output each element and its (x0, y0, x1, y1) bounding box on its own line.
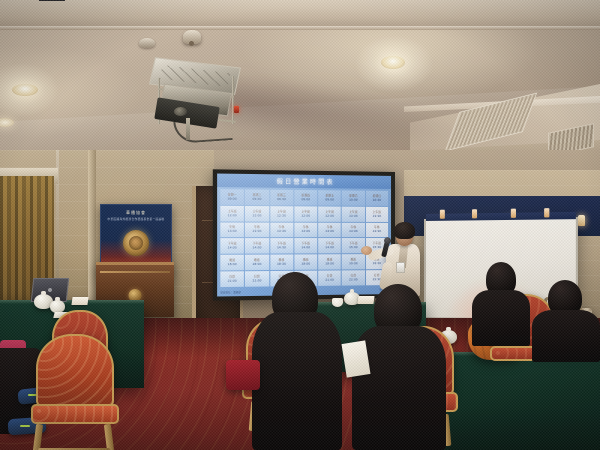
slide-cell-label: 晚班 (303, 259, 309, 262)
slide-cell-value: 18:30 (277, 263, 286, 267)
slide-cell-r0-c2: 星期三09:30 (270, 190, 293, 205)
presenter-hair (394, 222, 415, 239)
downlight-right (381, 56, 405, 69)
slide-cell-value: 13:00 (253, 230, 262, 234)
slide-cell-value: 14:00 (301, 246, 310, 250)
slide-cell-value: 12:00 (301, 214, 310, 218)
slide-cell-label: 午休 (229, 226, 235, 229)
slide-cell-value: 09:00 (253, 197, 262, 201)
projector-lens-icon (174, 107, 187, 116)
slide-cell-r1-c6: 上午班13:30 (366, 207, 388, 222)
slide-cell-label: 上午班 (253, 210, 262, 213)
handout-right (341, 340, 370, 377)
slide-cell-label: 星期二 (253, 193, 262, 196)
downlight-left (12, 84, 38, 96)
place-card-left (71, 297, 88, 305)
projector-status-led (234, 106, 239, 113)
slide-cell-label: 星期一 (228, 193, 237, 196)
slide-cell-r1-c0: 上午班12:00 (220, 206, 244, 222)
slide-cell-r4-c1: 晚班18:00 (245, 255, 269, 270)
slide-cell-value: 14:30 (277, 246, 286, 250)
slide-cell-r2-c5: 午休14:00 (342, 223, 365, 238)
slide-cell-label: 晚班 (254, 259, 260, 262)
slide-cell-r3-c3: 下午班14:00 (294, 239, 317, 254)
slide-cell-label: 星期四 (301, 194, 310, 197)
whiteboard-marker-tray (426, 212, 576, 221)
slide-cell-label: 午休 (279, 226, 285, 229)
marker-green[interactable] (511, 209, 516, 218)
conference-room-photo: 假日營業時間表 星期一09:00星期二09:00星期三09:30星期四09:00… (0, 0, 600, 450)
ceiling-projector (144, 62, 248, 130)
slide-cell-label: 下午班 (325, 242, 334, 245)
slide-cell-label: 下午班 (253, 242, 262, 245)
slide-cell-r3-c4: 下午班14:00 (318, 239, 341, 254)
white-teacup-center (332, 298, 343, 307)
slide-cell-r0-c0: 星期一09:00 (220, 189, 244, 205)
slide-cell-r4-c2: 晚班18:30 (270, 255, 293, 270)
slide-cell-value: 13:00 (349, 214, 358, 217)
slide-cell-label: 上午班 (277, 210, 286, 213)
slide-cell-label: 星期五 (325, 194, 334, 197)
slide-cell-r5-c0: 打烊21:00 (220, 271, 244, 287)
shoe-stripe-right (20, 425, 30, 427)
presenter-hand (361, 246, 372, 255)
slide-cell-value: 09:00 (228, 197, 237, 201)
banquet-chair-front-left[interactable] (36, 334, 114, 450)
slide-cell-value: 21:00 (325, 278, 334, 282)
slide-cell-value: 22:00 (349, 278, 358, 282)
projector-drop-pole (186, 118, 190, 140)
slide-cell-value: 14:00 (325, 246, 334, 249)
slide-cell-value: 13:00 (325, 230, 334, 233)
slide-cell-r3-c0: 下午班14:00 (220, 239, 244, 254)
slide-title-text: 假日營業時間表 (277, 176, 335, 186)
smoke-detector-icon (139, 38, 155, 48)
slide-cell-value: 09:30 (277, 198, 286, 202)
slide-cell-r0-c6: 星期日10:30 (366, 191, 388, 206)
slide-cell-value: 13:30 (373, 214, 382, 217)
laptop-logo-icon (48, 288, 52, 292)
podium-laptop[interactable] (39, 0, 67, 1)
slide-cell-r2-c4: 午休13:00 (318, 222, 341, 237)
slide-cell-value: 14:00 (349, 230, 358, 233)
attendee-torso (532, 310, 600, 362)
slide-cell-label: 午休 (327, 226, 333, 229)
slide-cell-label: 打烊 (351, 274, 357, 277)
slide-title-bar: 假日營業時間表 (217, 174, 391, 189)
slide-cell-r2-c6: 午休14:30 (366, 223, 388, 238)
slide-cell-r5-c1: 打烊21:00 (245, 271, 269, 287)
slide-cell-value: 13:00 (301, 230, 310, 233)
slide-cell-value: 12:00 (325, 214, 334, 217)
slide-cell-label: 星期六 (349, 194, 357, 197)
slide-cell-r2-c3: 午休13:00 (294, 222, 317, 237)
slide-cell-r3-c1: 下午班14:00 (245, 239, 269, 254)
slide-cell-value: 18:00 (228, 263, 237, 267)
slide-cell-value: 09:00 (301, 198, 310, 202)
slide-cell-label: 晚班 (279, 259, 285, 262)
slide-cell-value: 21:00 (228, 279, 237, 283)
slide-cell-label: 午休 (374, 226, 380, 229)
slide-cell-r2-c1: 午休13:00 (245, 222, 269, 237)
slide-cell-label: 下午班 (373, 242, 381, 245)
slide-cell-label: 晚班 (351, 258, 357, 261)
slide-cell-r1-c2: 上午班12:30 (270, 206, 293, 221)
slide-cell-label: 晚班 (229, 259, 235, 262)
slide-cell-value: 18:00 (301, 263, 310, 267)
slide-cell-label: 打烊 (327, 274, 333, 277)
slide-cell-value: 21:00 (253, 279, 262, 283)
slide-cell-r3-c2: 下午班14:30 (270, 239, 293, 254)
slide-cell-label: 下午班 (277, 242, 286, 245)
slide-cell-value: 14:00 (228, 247, 237, 251)
slide-cell-label: 晚班 (327, 258, 333, 261)
slide-cell-label: 打烊 (229, 275, 235, 278)
slide-cell-r4-c0: 晚班18:00 (220, 255, 244, 271)
chair-seat (31, 404, 118, 425)
slide-cell-r1-c1: 上午班12:00 (245, 206, 269, 221)
slide-cell-label: 上午班 (325, 210, 334, 213)
slide-cell-r0-c3: 星期四09:00 (294, 190, 317, 205)
slide-cell-value: 10:30 (373, 199, 382, 202)
slide-cell-label: 午休 (254, 226, 260, 229)
banner-subheading: 中華民國海外經濟合作發展基金第一屆論壇 (101, 217, 171, 221)
slide-cell-value: 18:00 (253, 263, 262, 267)
marker-black[interactable] (544, 208, 549, 217)
slide-cell-label: 午休 (351, 226, 357, 229)
slide-cell-value: 09:00 (325, 198, 334, 202)
slide-cell-r4-c4: 晚班18:00 (318, 255, 341, 270)
slide-footer-left: 製表單位：業務部 (220, 289, 240, 293)
slide-cell-label: 午休 (303, 226, 309, 229)
slide-cell-r2-c2: 午休13:30 (270, 222, 293, 237)
banner-heading: 華僑協會 (101, 210, 171, 216)
slide-cell-label: 下午班 (301, 242, 310, 245)
slide-cell-value: 10:00 (349, 198, 358, 202)
slide-cell-value: 19:00 (349, 262, 358, 265)
slide-cell-r0-c1: 星期二09:00 (245, 189, 269, 205)
chair-backrest (36, 334, 114, 408)
ceiling-cornice (0, 0, 600, 28)
attendee-torso (352, 326, 446, 450)
slide-cell-label: 星期日 (373, 194, 381, 197)
podium-trim (100, 271, 170, 273)
attendee-torso (472, 290, 530, 346)
slide-cell-r1-c5: 上午班13:00 (342, 206, 365, 221)
slide-cell-label: 上午班 (349, 210, 357, 213)
attendee-torso (252, 312, 342, 450)
slide-cell-value: 19:30 (373, 262, 382, 265)
slide-cell-r0-c4: 星期五09:00 (318, 190, 341, 205)
slide-cell-label: 上午班 (373, 210, 381, 213)
slide-cell-r4-c3: 晚班18:00 (294, 255, 317, 270)
marker-blue[interactable] (472, 209, 477, 218)
slide-cell-label: 打烊 (254, 275, 260, 278)
slide-schedule-grid: 星期一09:00星期二09:00星期三09:30星期四09:00星期五09:00… (220, 189, 388, 287)
slide-cell-value: 15:00 (349, 246, 358, 249)
slide-cell-value: 13:00 (228, 230, 237, 234)
chair-leg-fr (104, 424, 115, 450)
cornice-edge (0, 26, 600, 30)
slide-cell-label: 星期三 (277, 194, 286, 197)
projector-rod-right (232, 76, 234, 124)
slide-cell-value: 12:00 (228, 214, 237, 218)
slide-cell-label: 下午班 (349, 242, 357, 245)
slide-cell-value: 14:00 (253, 247, 262, 251)
slide-cell-r5-c5: 打烊22:00 (342, 270, 365, 285)
slide-cell-r2-c0: 午休13:00 (220, 222, 244, 237)
slide-cell-value: 18:00 (325, 262, 334, 266)
slide-cell-value: 14:30 (373, 230, 382, 233)
banner-emblem-icon (123, 230, 149, 256)
slide-cell-r1-c4: 上午班12:00 (318, 206, 341, 221)
slide-cell-value: 12:00 (253, 214, 262, 218)
wall-light-5 (578, 215, 585, 226)
slide-cell-label: 上午班 (228, 210, 237, 213)
sprinkler-head-icon (183, 30, 201, 44)
slide-cell-r1-c3: 上午班12:00 (294, 206, 317, 221)
slide-cell-value: 12:30 (277, 214, 286, 218)
marker-red[interactable] (440, 210, 445, 219)
slide-cell-r5-c4: 打烊21:00 (318, 271, 341, 286)
slide-cell-value: 13:30 (277, 230, 286, 234)
place-card-center (357, 296, 374, 304)
slide-cell-label: 下午班 (228, 242, 237, 245)
slide-cell-r4-c5: 晚班19:00 (342, 254, 365, 269)
red-tote[interactable] (226, 360, 260, 390)
slide-cell-label: 上午班 (301, 210, 310, 213)
name-badge (396, 262, 405, 273)
slide-cell-r0-c5: 星期六10:00 (342, 190, 365, 205)
slide-cell-label: 打烊 (374, 274, 380, 277)
